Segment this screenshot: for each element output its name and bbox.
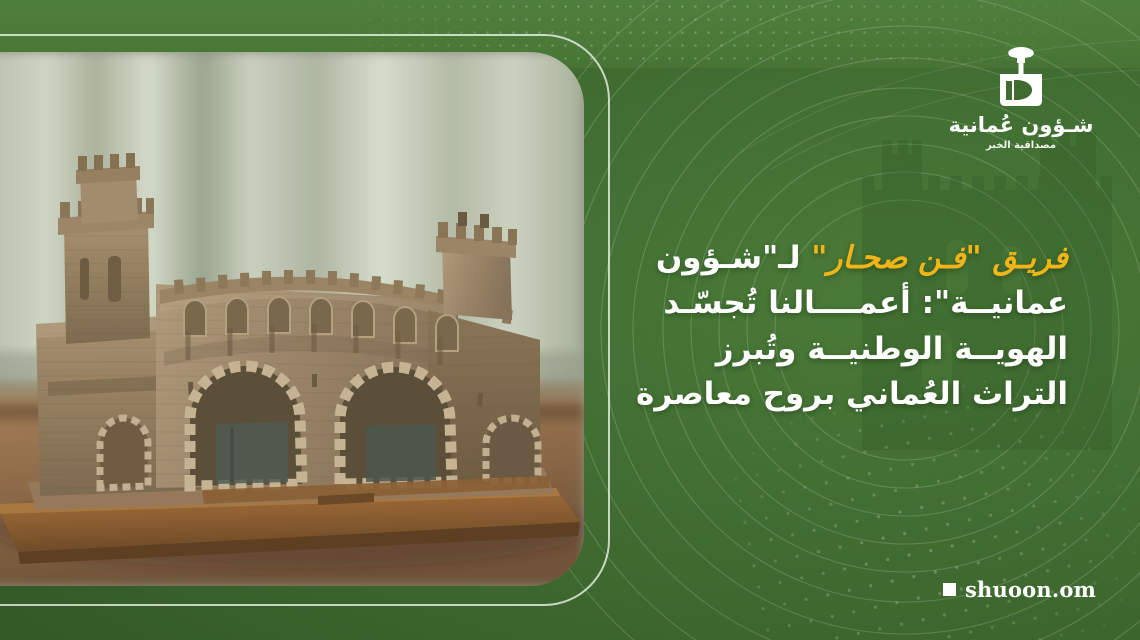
article-photo [0,52,584,586]
brand-name: شـؤون عُمانية [946,114,1096,137]
square-bullet-icon [943,583,956,596]
website-url: shuoon.om [965,577,1096,602]
headline: فريـق "فـن صحـار" لـ"شـؤون عمانيــة": أع… [632,236,1068,417]
brand-tagline: مصداقية الخبر [946,140,1096,151]
headline-highlight: فريـق "فـن صحـار" [811,240,1068,276]
wooden-fort-model-image [0,52,584,586]
brand-logo[interactable]: شـؤون عُمانية مصداقية الخبر [946,46,1096,151]
website-label[interactable]: shuoon.om [943,577,1096,602]
mabkhara-incense-burner-icon [992,46,1050,108]
news-card: فريـق "فـن صحـار" لـ"شـؤون عمانيــة": أع… [0,0,1140,640]
